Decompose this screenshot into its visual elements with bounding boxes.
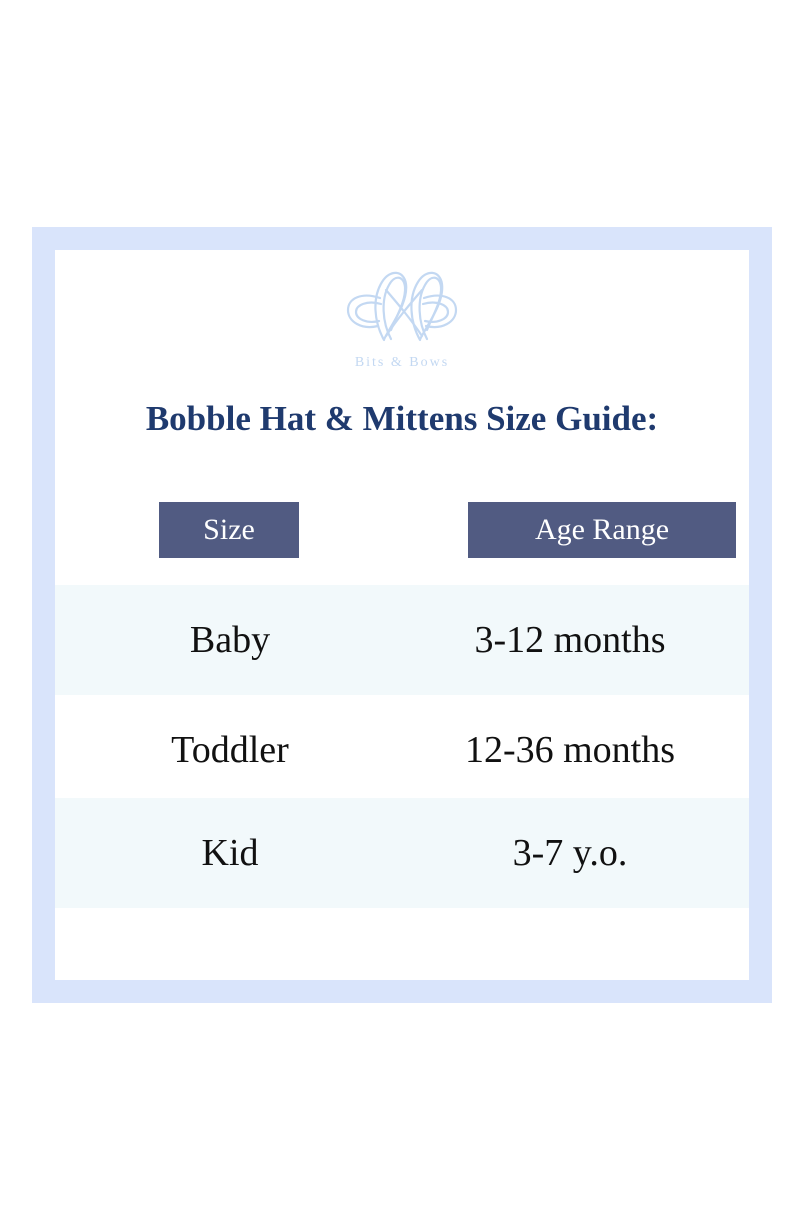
cell-age-range: 3-12 months — [400, 585, 740, 695]
cell-age-range: 12-36 months — [400, 695, 740, 805]
cell-size: Kid — [115, 798, 345, 908]
table-row: Baby 3-12 months — [55, 585, 749, 695]
column-header-size: Size — [159, 502, 299, 558]
brand-logo: Bits & Bows — [55, 260, 749, 371]
column-header-age-range: Age Range — [468, 502, 736, 558]
cell-size: Baby — [115, 585, 345, 695]
bits-and-bows-monogram-icon — [340, 260, 464, 352]
table-row: Toddler 12-36 months — [55, 695, 749, 805]
cell-size: Toddler — [115, 695, 345, 805]
brand-name: Bits & Bows — [355, 355, 449, 371]
size-guide-card: Bits & Bows Bobble Hat & Mittens Size Gu… — [55, 250, 749, 980]
cell-age-range: 3-7 y.o. — [400, 798, 740, 908]
size-guide-card-frame: Bits & Bows Bobble Hat & Mittens Size Gu… — [32, 227, 772, 1003]
table-row: Kid 3-7 y.o. — [55, 798, 749, 908]
table-header-row: Size Age Range — [55, 502, 749, 558]
page-title: Bobble Hat & Mittens Size Guide: — [55, 398, 749, 440]
